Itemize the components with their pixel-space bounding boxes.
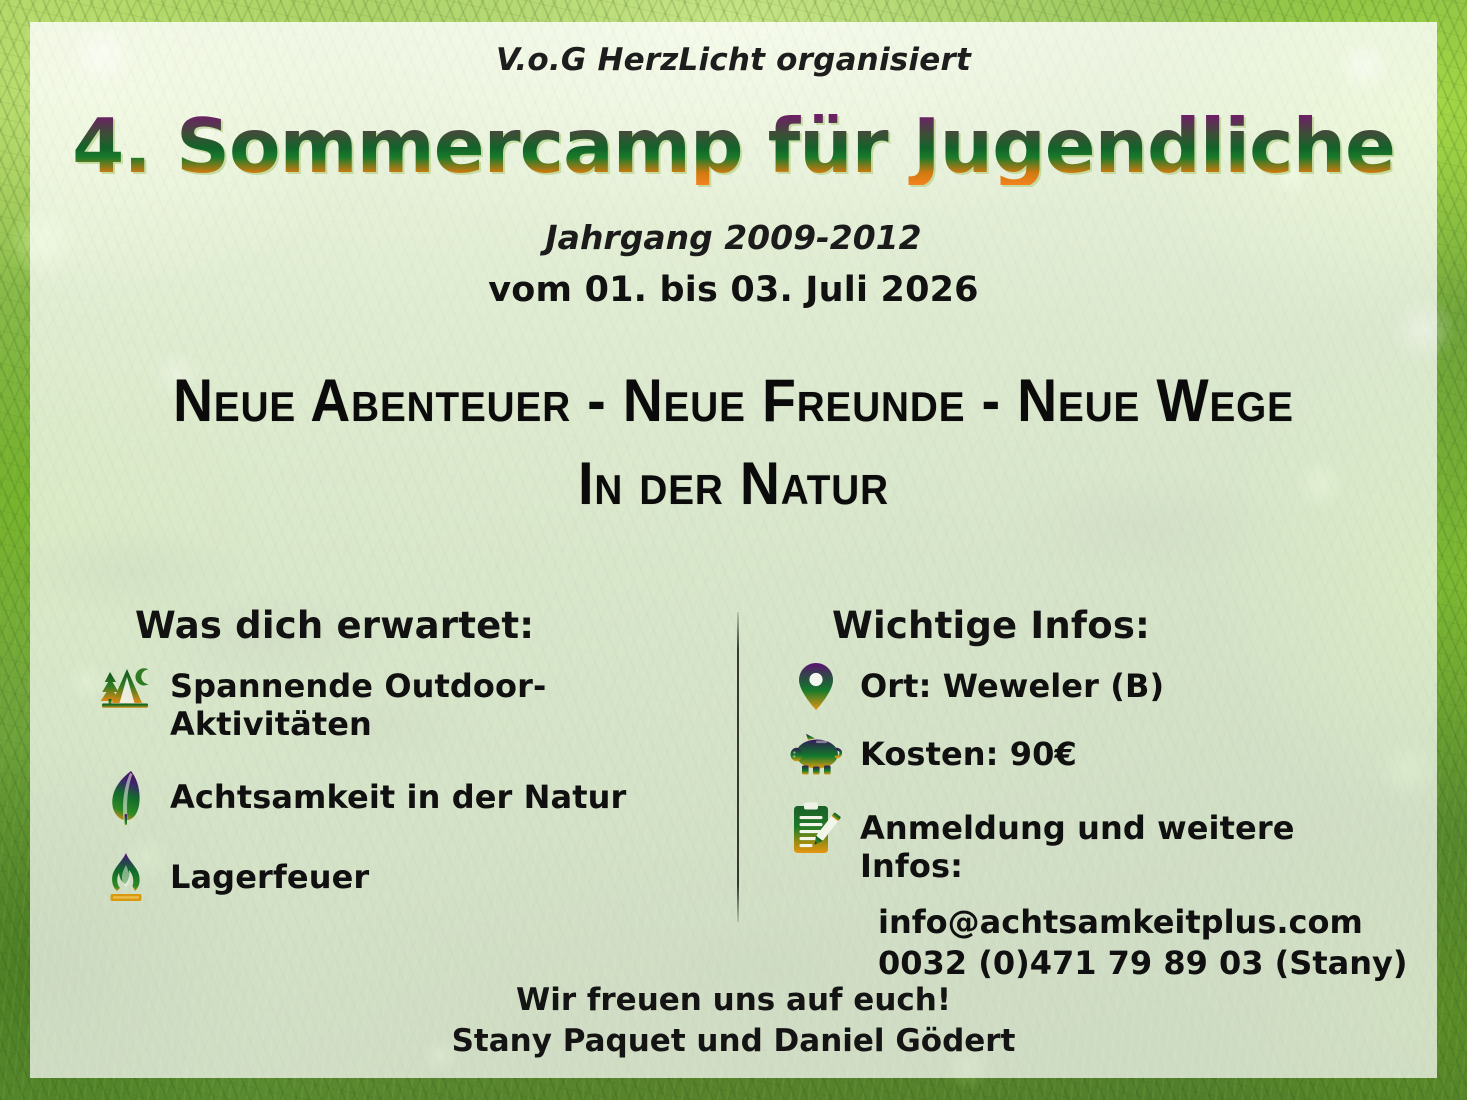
poster-root: V.o.G HerzLicht organisiert 4. Sommercam… <box>0 0 1467 1100</box>
slogan-line-1: Neue Abenteuer - Neue Freunde - Neue Weg… <box>173 367 1294 434</box>
slogan: Neue Abenteuer - Neue Freunde - Neue Weg… <box>59 360 1409 526</box>
right-column-heading: Wichtige Infos: <box>832 604 1390 647</box>
list-item-label: Spannende Outdoor-Aktivitäten <box>170 661 720 744</box>
left-column: Was dich erwartet: <box>100 604 720 932</box>
right-column: Wichtige Infos: <box>790 604 1390 985</box>
contact-email[interactable]: info@achtsamkeitplus.com <box>878 902 1390 944</box>
contact-phone[interactable]: 0032 (0)471 79 89 03 (Stany) <box>878 943 1390 985</box>
camping-tent-icon <box>100 661 152 713</box>
list-item: Ort: Weweler (B) <box>790 661 1390 713</box>
footer-line-2: Stany Paquet und Daniel Gödert <box>0 1021 1467 1062</box>
clipboard-pen-icon <box>790 803 842 855</box>
list-item: Achtsamkeit in der Natur <box>100 772 720 824</box>
contact-details: info@achtsamkeitplus.com 0032 (0)471 79 … <box>878 902 1390 985</box>
list-item: Lagerfeuer <box>100 852 720 904</box>
list-item-label: Achtsamkeit in der Natur <box>170 772 626 817</box>
age-group-line: Jahrgang 2009-2012 <box>0 218 1467 257</box>
list-item-label: Kosten: 90€ <box>860 729 1077 774</box>
list-item-label: Ort: Weweler (B) <box>860 661 1164 706</box>
left-column-heading: Was dich erwartet: <box>135 604 720 647</box>
footer-message: Wir freuen uns auf euch! Stany Paquet un… <box>0 980 1467 1062</box>
list-item: Anmeldung und weitere Infos: <box>790 803 1390 886</box>
location-pin-icon <box>790 661 842 713</box>
list-item: Kosten: 90€ <box>790 729 1390 781</box>
footer-line-1: Wir freuen uns auf euch! <box>516 982 951 1018</box>
column-divider <box>737 612 739 922</box>
poster-content: V.o.G HerzLicht organisiert 4. Sommercam… <box>0 0 1467 1100</box>
list-item-label: Lagerfeuer <box>170 852 369 897</box>
slogan-line-2: In der Natur <box>59 443 1409 526</box>
leaf-feather-icon <box>100 772 152 824</box>
list-item: Spannende Outdoor-Aktivitäten <box>100 661 720 744</box>
organizer-line: V.o.G HerzLicht organisiert <box>0 42 1467 78</box>
page-title: 4. Sommercamp für Jugendliche <box>0 108 1467 185</box>
campfire-flame-icon <box>100 852 152 904</box>
date-range-line: vom 01. bis 03. Juli 2026 <box>0 270 1467 310</box>
piggy-bank-icon <box>790 729 842 781</box>
list-item-label: Anmeldung und weitere Infos: <box>860 803 1390 886</box>
